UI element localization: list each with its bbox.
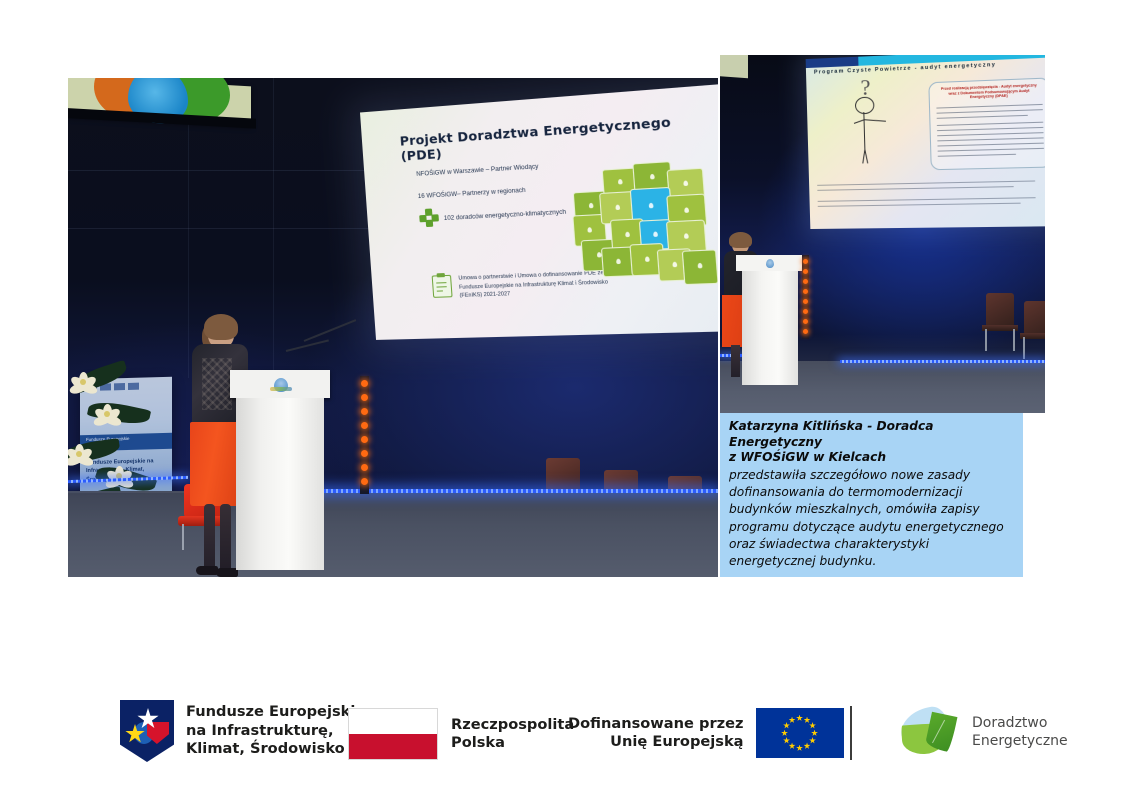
poland-flag-icon xyxy=(348,708,438,760)
eu-line-2: Unię Europejską xyxy=(610,733,743,750)
fundusze-europejskie-logo-icon xyxy=(120,700,174,762)
rzeczpospolita-polska-label: Rzeczpospolita Polska xyxy=(451,716,574,753)
wall-seam-vertical xyxy=(273,78,274,378)
orange-led-tower xyxy=(360,376,369,494)
slide-bullet-1: NFOŚiGW w Warszawie – Partner Wiodący xyxy=(416,163,539,178)
secondary-screen-edge xyxy=(720,55,748,78)
eu-star xyxy=(789,717,796,724)
stick-figure-illustration xyxy=(847,96,892,164)
flower-bloom xyxy=(68,442,92,466)
doradztwo-energetyczne-logo-icon xyxy=(898,706,960,758)
slide-bullet-3: 102 doradców energetyczno-klimatycznych xyxy=(444,208,567,222)
unia-europejska-logo-block: Dofinansowane przez Unię Europejską xyxy=(568,708,844,758)
hexagon-cluster-icon xyxy=(419,208,441,227)
caption-bold-line-1: Katarzyna Kitlińska - Doradca Energetycz… xyxy=(729,419,933,449)
projection-slide-pde: Projekt Doradztwa Energetycznego (PDE) N… xyxy=(360,83,718,340)
projection-slide-czyste-powietrze: Program Czyste Powietrze - audyt energet… xyxy=(806,55,1045,229)
eu-line-1: Dofinansowane przez xyxy=(568,715,744,732)
eu-star xyxy=(783,722,790,729)
stage-chair xyxy=(982,293,1018,349)
de-line-2: Energetyczne xyxy=(972,733,1068,749)
eu-star xyxy=(796,715,803,722)
photo-caption: Katarzyna Kitlińska - Doradca Energetycz… xyxy=(720,413,1023,577)
fe-line-2: na Infrastrukturę, xyxy=(186,722,334,739)
orange-led-tower xyxy=(802,255,809,339)
rzeczpospolita-polska-logo-block: Rzeczpospolita Polska xyxy=(348,708,574,760)
lectern-body xyxy=(236,398,324,570)
european-union-flag-icon xyxy=(756,708,844,758)
pl-line-1: Rzeczpospolita xyxy=(451,716,574,733)
stage-floor xyxy=(68,491,718,577)
flower-bloom xyxy=(94,402,120,426)
question-mark-icon: ? xyxy=(860,74,871,101)
flower-bloom xyxy=(106,464,132,488)
caption-bold-line-2: z WFOŚiGW w Kielcach xyxy=(729,450,886,464)
speaker-hair xyxy=(204,314,238,340)
secondary-photo: Program Czyste Powietrze - audyt energet… xyxy=(720,55,1045,413)
slide-bullet-2: 16 WFOŚiGW– Partnerzy w regionach xyxy=(418,187,526,200)
doradztwo-energetyczne-logo-block: Doradztwo Energetyczne xyxy=(898,706,1068,758)
eu-star xyxy=(809,737,816,744)
lectern xyxy=(742,255,798,385)
eu-star xyxy=(796,745,803,752)
caption-description: przedstawiła szczegółowo nowe zasady dof… xyxy=(729,467,1015,571)
lectern-logo xyxy=(766,259,774,268)
eu-star xyxy=(783,737,790,744)
slide-callout-title: Przed realizacją przedsięwzięcia - Audyt… xyxy=(938,83,1041,101)
caption-speaker-name: Katarzyna Kitlińska - Doradca Energetycz… xyxy=(729,419,1015,466)
funding-logo-bar: Fundusze Europejskie na Infrastrukturę, … xyxy=(0,686,1123,782)
fe-line-1: Fundusze Europejskie xyxy=(186,703,365,720)
lectern-logo xyxy=(274,378,288,392)
eu-star xyxy=(809,722,816,729)
eu-star xyxy=(804,742,811,749)
eu-star xyxy=(789,742,796,749)
de-line-1: Doradztwo xyxy=(972,715,1047,731)
blue-led-strip xyxy=(840,360,1045,363)
eu-star xyxy=(811,730,818,737)
fundusze-europejskie-logo-block: Fundusze Europejskie na Infrastrukturę, … xyxy=(120,700,365,762)
poland-voivodeship-map xyxy=(566,151,718,297)
fundusze-europejskie-label: Fundusze Europejskie na Infrastrukturę, … xyxy=(186,703,365,758)
pl-line-2: Polska xyxy=(451,734,505,751)
footer-divider xyxy=(850,706,852,760)
clipboard-icon xyxy=(432,275,453,298)
lectern xyxy=(236,370,324,570)
stage-chair xyxy=(1020,301,1045,357)
flower-bloom xyxy=(70,370,96,394)
unia-europejska-label: Dofinansowane przez Unię Europejską xyxy=(568,715,744,752)
eu-star xyxy=(781,730,788,737)
main-photo: Projekt Doradztwa Energetycznego (PDE) N… xyxy=(68,78,718,577)
fe-line-3: Klimat, Środowisko xyxy=(186,740,345,757)
eu-star xyxy=(804,717,811,724)
slide-callout-box: Przed realizacją przedsięwzięcia - Audyt… xyxy=(928,77,1045,170)
doradztwo-energetyczne-label: Doradztwo Energetyczne xyxy=(972,714,1068,751)
